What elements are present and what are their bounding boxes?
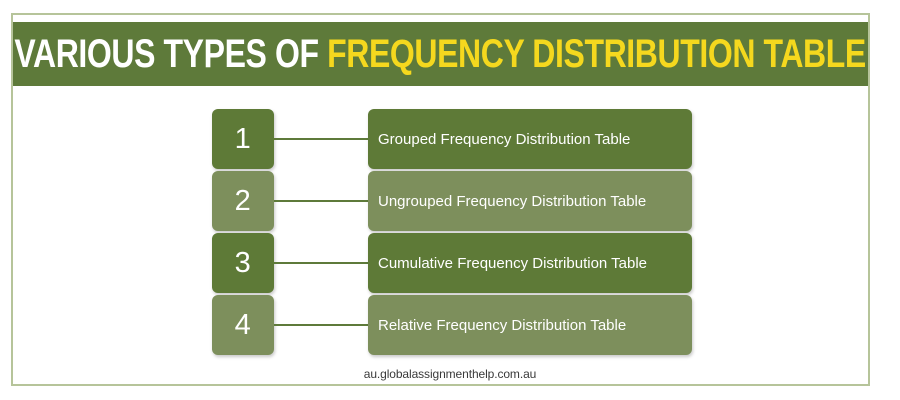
item-label-bar[interactable]: Relative Frequency Distribution Table <box>368 295 692 355</box>
item-label-bar[interactable]: Cumulative Frequency Distribution Table <box>368 233 692 293</box>
step-number-badge: 4 <box>212 295 274 355</box>
item-label-text: Cumulative Frequency Distribution Table <box>378 255 647 272</box>
item-label-bar[interactable]: Ungrouped Frequency Distribution Table <box>368 171 692 231</box>
step-number-badge: 1 <box>212 109 274 169</box>
step-number-badge: 2 <box>212 171 274 231</box>
step-number-label: 2 <box>235 185 252 218</box>
connector-line <box>274 324 370 326</box>
connector-line <box>274 262 370 264</box>
step-number-label: 3 <box>235 247 252 280</box>
list-container: 1 Grouped Frequency Distribution Table 2… <box>0 0 900 400</box>
item-label-text: Ungrouped Frequency Distribution Table <box>378 193 646 210</box>
connector-line <box>274 138 370 140</box>
connector-line <box>274 200 370 202</box>
infographic-canvas: VARIOUS TYPES OF FREQUENCY DISTRIBUTION … <box>0 0 900 400</box>
list-item: 3 Cumulative Frequency Distribution Tabl… <box>0 233 900 295</box>
list-item: 1 Grouped Frequency Distribution Table <box>0 109 900 171</box>
list-item: 4 Relative Frequency Distribution Table <box>0 295 900 357</box>
step-number-label: 4 <box>235 309 252 342</box>
item-label-text: Relative Frequency Distribution Table <box>378 317 626 334</box>
item-label-bar[interactable]: Grouped Frequency Distribution Table <box>368 109 692 169</box>
step-number-badge: 3 <box>212 233 274 293</box>
footer-url[interactable]: au.globalassignmenthelp.com.au <box>0 367 900 381</box>
step-number-label: 1 <box>235 123 252 156</box>
item-label-text: Grouped Frequency Distribution Table <box>378 131 630 148</box>
list-item: 2 Ungrouped Frequency Distribution Table <box>0 171 900 233</box>
